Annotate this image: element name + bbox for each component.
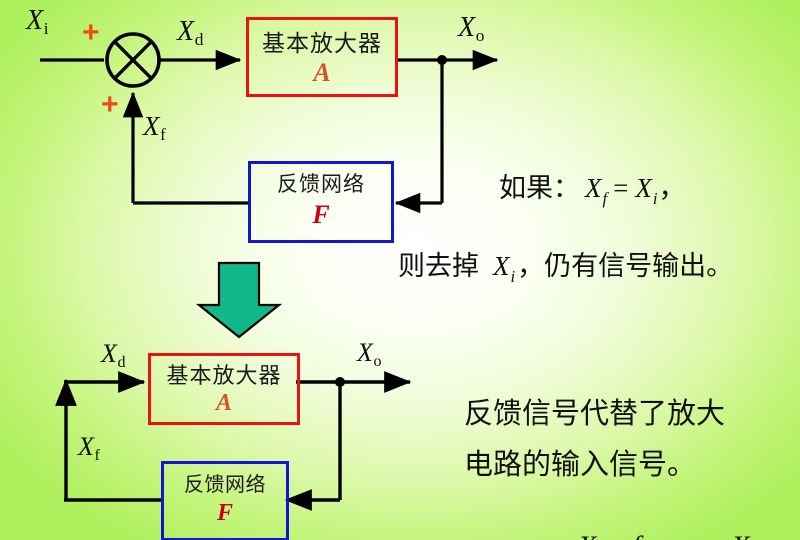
note-bottom-line1: 反馈信号代替了放大	[464, 395, 725, 434]
bottom-output-label-sub: o	[373, 353, 382, 370]
top-feedback-label-base: X	[143, 111, 160, 141]
note-top-lhs-sub: f	[602, 189, 608, 208]
note-top-line1: 如果：Xf=Xi，	[499, 170, 686, 211]
note-bottom-line2-text: 电路的输入信号。	[464, 449, 696, 481]
bottom-feedback-block-symbol: F	[164, 500, 286, 527]
top-feedback-label: Xf	[143, 113, 166, 144]
top-input-plus-sign: +	[82, 18, 100, 48]
bottom-output-label-base: X	[357, 338, 373, 367]
top-input-label-sub: i	[43, 19, 49, 38]
note-top-line2-var-base: X	[493, 251, 510, 281]
bottom-feedback-label-sub: f	[94, 447, 100, 464]
top-feedback-label-sub: f	[160, 125, 166, 144]
note-top-line2-prefix: 则去掉	[398, 251, 479, 281]
note-top-equals: =	[609, 173, 632, 203]
note-top-line2: 则去掉Xi，仍有信号输出。	[398, 248, 733, 289]
bottom-output-label: Xo	[357, 340, 382, 370]
clipped-formula: X f = X i = X d	[578, 532, 788, 540]
top-output-label-sub: o	[475, 26, 484, 45]
bottom-amplifier-block[interactable]: 基本放大器 A	[148, 353, 300, 425]
top-feedback-block-title: 反馈网络	[251, 168, 391, 198]
top-output-label-base: X	[458, 12, 475, 43]
note-top-line2-var-sub: i	[510, 267, 516, 286]
note-top-rhs-sub: i	[652, 189, 658, 208]
top-feedback-block-symbol: F	[251, 200, 391, 230]
top-feedback-plus-sign: +	[101, 90, 119, 120]
top-error-label-sub: d	[194, 30, 203, 49]
clipped-formula-text: X f = X i = X d	[578, 532, 788, 540]
top-feedback-block[interactable]: 反馈网络 F	[248, 161, 394, 243]
top-amplifier-block-title: 基本放大器	[249, 24, 395, 58]
top-error-label: Xd	[177, 18, 203, 49]
note-bottom-line2: 电路的输入信号。	[464, 446, 696, 485]
top-input-label-base: X	[26, 5, 43, 36]
down-arrow-icon	[199, 263, 279, 337]
note-top-rhs-base: X	[635, 173, 652, 203]
note-top-line1-comma: ，	[659, 173, 686, 203]
bottom-error-label-sub: d	[117, 354, 126, 371]
top-error-label-base: X	[177, 16, 194, 47]
bottom-amplifier-block-symbol: A	[151, 390, 297, 417]
slide-canvas: 基本放大器 A 反馈网络 F Xi + + Xd Xf Xo 如果：Xf=Xi，…	[0, 0, 800, 540]
top-output-label: Xo	[458, 14, 484, 45]
bottom-feedback-block-title: 反馈网络	[164, 468, 286, 497]
bottom-feedback-label-base: X	[78, 432, 94, 461]
bottom-error-label: Xd	[101, 341, 126, 371]
note-top-lhs-base: X	[585, 173, 602, 203]
bottom-amplifier-block-title: 基本放大器	[151, 358, 297, 390]
bottom-error-label-base: X	[101, 339, 117, 368]
note-top-line2-suffix: ，仍有信号输出。	[517, 251, 733, 281]
bottom-feedback-label: Xf	[78, 434, 100, 464]
top-amplifier-block[interactable]: 基本放大器 A	[246, 17, 398, 97]
top-input-label: Xi	[26, 7, 49, 38]
note-bottom-line1-text: 反馈信号代替了放大	[464, 398, 725, 430]
bottom-feedback-block[interactable]: 反馈网络 F	[161, 461, 289, 540]
note-top-line1-prefix: 如果：	[499, 173, 580, 203]
top-amplifier-block-symbol: A	[249, 58, 395, 88]
